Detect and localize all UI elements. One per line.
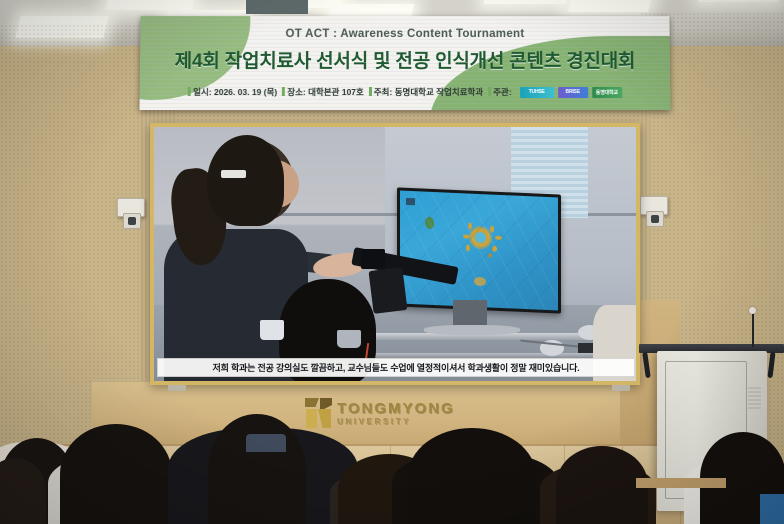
info-organizer: 주관:: [488, 86, 512, 98]
audience-head: [208, 414, 306, 524]
audience-head: [408, 428, 536, 524]
video-person-hair: [207, 135, 284, 226]
bullet-icon: [488, 87, 491, 96]
audience-head: [556, 446, 648, 524]
podium-microphone-head: [749, 307, 756, 314]
video-instrument-grip: [361, 249, 385, 269]
video-instrument-handle: [368, 267, 407, 314]
monitor-logo-icon: [407, 197, 416, 204]
info-place: 장소: 대학본관 107호: [282, 86, 364, 98]
ceiling-light: [484, 0, 570, 4]
banner-info-line: 일시: 2026. 03. 19 (목) 장소: 대학본관 107호 주최: 동…: [140, 86, 671, 98]
sponsor-logo-brise: BRISE: [558, 87, 588, 98]
info-date: 일시: 2026. 03. 19 (목): [188, 86, 277, 98]
video-subtitle: 저희 학과는 전공 강의실도 깔끔하고, 교수님들도 수업에 열정적이셔서 학과…: [157, 358, 635, 377]
sponsor-logos: TUHSE BRISE 동명대학교: [520, 87, 622, 98]
ceiling-light: [568, 0, 652, 12]
bullet-icon: [188, 87, 191, 96]
screen-mount-left: [168, 385, 186, 391]
camera-lens-icon: [646, 211, 664, 227]
video-monitor: [397, 187, 561, 314]
video-screen: 저희 학과는 전공 강의실도 깔끔하고, 교수님들도 수업에 열정적이셔서 학과…: [154, 127, 636, 381]
wall-speaker-left: [117, 198, 145, 217]
video-cup: [260, 320, 284, 340]
bullet-icon: [282, 87, 285, 96]
video-monitor-stand: [453, 300, 487, 325]
ceiling-light: [106, 0, 197, 10]
banner-korean-title: 제4회 작업치료사 선서식 및 전공 인식개선 콘텐츠 경진대회: [140, 46, 670, 73]
display-blob-small: [489, 253, 493, 257]
university-logo-icon: [305, 398, 332, 428]
audience-collar: [246, 434, 286, 452]
podium-vent: [748, 387, 761, 409]
ceiling-light: [698, 0, 782, 2]
video-monitor-base: [424, 325, 520, 335]
sponsor-logo-university: 동명대학교: [592, 87, 622, 98]
sponsor-logo-tuhse: TUHSE: [520, 87, 554, 98]
info-host: 주최: 동명대학교 작업치료학과: [369, 86, 483, 98]
desk-edge: [636, 478, 726, 488]
audience-head: [60, 424, 172, 524]
signage-name: TONGMYONG: [337, 401, 455, 416]
wall-signage: TONGMYONG UNIVERSITY: [305, 398, 455, 428]
video-cup-2: [337, 330, 361, 348]
audience-badge: [760, 494, 784, 524]
display-blob-green: [426, 216, 435, 228]
display-blob-center: [471, 227, 490, 247]
banner-english-title: OT ACT : Awareness Content Tournament: [140, 28, 669, 40]
signage-subtitle: UNIVERSITY: [337, 418, 455, 426]
display-blob-bottom: [475, 276, 487, 286]
video-hair-tie: [221, 170, 245, 178]
podium-microphone-stem: [752, 313, 754, 347]
camera-lens-icon: [123, 213, 141, 229]
screen-mount-right: [612, 385, 630, 391]
auditorium-photo: OT ACT : Awareness Content Tournament 제4…: [0, 0, 784, 524]
projection-screen-frame: 저희 학과는 전공 강의실도 깔끔하고, 교수님들도 수업에 열정적이셔서 학과…: [150, 123, 640, 385]
ceiling-beam: [246, 0, 308, 14]
wall-speaker-right: [640, 196, 668, 215]
video-monitor-display: [400, 190, 558, 310]
bullet-icon: [369, 87, 372, 96]
event-banner: OT ACT : Awareness Content Tournament 제4…: [139, 16, 670, 110]
